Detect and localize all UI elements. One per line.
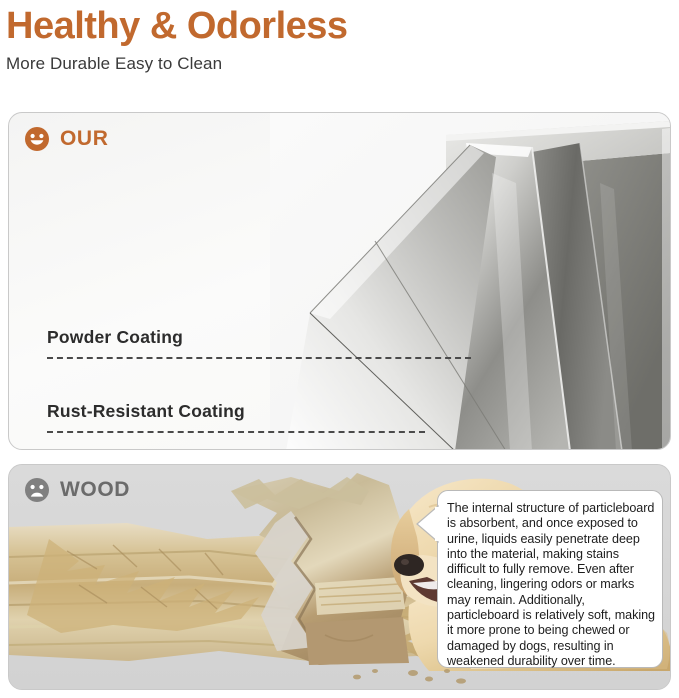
spec-row-rust-resistant-coating: Rust-Resistant Coating	[47, 401, 425, 433]
infographic-page: Healthy & Odorless More Durable Easy to …	[0, 0, 679, 698]
our-badge-label: OUR	[60, 127, 108, 151]
wood-badge: WOOD	[24, 477, 130, 503]
page-subtitle: More Durable Easy to Clean	[6, 52, 666, 76]
steel-panel-image	[270, 113, 670, 450]
callout-tail-icon	[416, 504, 438, 544]
callout-text: The internal structure of particleboard …	[447, 501, 656, 669]
spec-label: Powder Coating	[47, 327, 471, 348]
header: Healthy & Odorless More Durable Easy to …	[6, 4, 666, 76]
our-product-card: Powder Coating Rust-Resistant Coating Th…	[8, 112, 671, 450]
spec-dashed-leader	[47, 357, 471, 359]
spec-dashed-leader	[47, 431, 425, 433]
our-badge: OUR	[24, 126, 108, 152]
sad-face-icon	[24, 477, 50, 503]
wood-badge-label: WOOD	[60, 478, 130, 502]
spec-label: Rust-Resistant Coating	[47, 401, 425, 422]
page-title: Healthy & Odorless	[6, 4, 666, 48]
wood-callout-bubble: The internal structure of particleboard …	[437, 490, 663, 668]
spec-row-powder-coating: Powder Coating	[47, 327, 471, 359]
smiley-face-icon	[24, 126, 50, 152]
